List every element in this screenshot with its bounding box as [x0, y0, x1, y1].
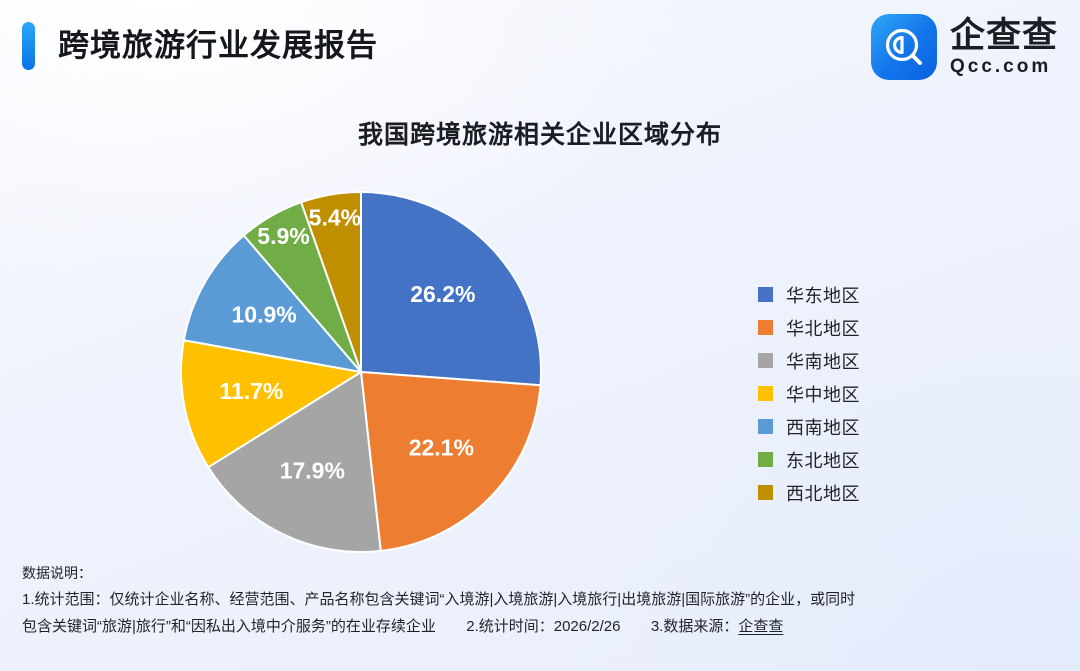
footnote-source-label: 3.数据来源： — [651, 618, 739, 635]
pie-chart: 26.2%22.1%17.9%11.7%10.9%5.9%5.4% 华东地区华北… — [0, 170, 1080, 550]
legend-item-label: 东北地区 — [786, 447, 860, 473]
legend-item-label: 西南地区 — [786, 414, 860, 440]
legend-swatch-icon — [758, 287, 773, 302]
footnote-line-2: 包含关键词“旅游|旅行”和“因私出入境中介服务”的在业存续企业 2.统计时间：2… — [22, 613, 1062, 640]
pie-slice-label: 22.1% — [409, 435, 474, 461]
legend-item-label: 西北地区 — [786, 480, 860, 506]
pie-chart-svg: 26.2%22.1%17.9%11.7%10.9%5.9%5.4% — [170, 180, 560, 570]
page-header: 跨境旅游行业发展报告 企查查 Qcc.com — [0, 0, 1080, 95]
footnotes: 数据说明： 1.统计范围：仅统计企业名称、经营范围、产品名称包含关键词“入境游|… — [22, 560, 1062, 640]
legend-item-label: 华中地区 — [786, 381, 860, 407]
chart-title: 我国跨境旅游相关企业区域分布 — [0, 115, 1080, 151]
legend-item[interactable]: 西北地区 — [758, 476, 860, 509]
chart-legend: 华东地区华北地区华南地区华中地区西南地区东北地区西北地区 — [758, 278, 860, 509]
legend-swatch-icon — [758, 353, 773, 368]
legend-swatch-icon — [758, 485, 773, 500]
brand-text: 企查查 Qcc.com — [950, 17, 1058, 78]
legend-swatch-icon — [758, 320, 773, 335]
footnote-heading: 数据说明： — [22, 560, 1062, 586]
legend-item[interactable]: 西南地区 — [758, 410, 860, 443]
pie-slice-label: 5.4% — [309, 204, 361, 230]
pie-slice-label: 17.9% — [280, 457, 345, 483]
pie-slice-label: 5.9% — [257, 223, 309, 249]
pie-slice-group — [181, 192, 541, 552]
brand-domain: Qcc.com — [950, 56, 1051, 78]
legend-item-label: 华东地区 — [786, 282, 860, 308]
pie-slice-label: 11.7% — [219, 378, 283, 404]
footnote-scope-tail: 包含关键词“旅游|旅行”和“因私出入境中介服务”的在业存续企业 — [22, 618, 436, 635]
legend-swatch-icon — [758, 452, 773, 467]
pie-slice-label: 10.9% — [231, 302, 296, 328]
pie-slice-label: 26.2% — [410, 281, 475, 307]
legend-item[interactable]: 华北地区 — [758, 311, 860, 344]
brand-logo: 企查查 Qcc.com — [871, 14, 1058, 80]
legend-item[interactable]: 东北地区 — [758, 443, 860, 476]
legend-item[interactable]: 华东地区 — [758, 278, 860, 311]
footnote-source-value: 企查查 — [738, 618, 783, 635]
pie-slice — [361, 372, 541, 551]
legend-item-label: 华南地区 — [786, 348, 860, 374]
footnote-stat-time: 2.统计时间：2026/2/26 — [466, 618, 620, 635]
title-accent-bar — [22, 22, 35, 70]
qcc-logo-icon — [871, 14, 937, 80]
legend-item[interactable]: 华中地区 — [758, 377, 860, 410]
brand-name: 企查查 — [950, 17, 1058, 55]
legend-item-label: 华北地区 — [786, 315, 860, 341]
page-title: 跨境旅游行业发展报告 — [58, 22, 378, 70]
legend-swatch-icon — [758, 386, 773, 401]
footnote-line-1: 1.统计范围：仅统计企业名称、经营范围、产品名称包含关键词“入境游|入境旅游|入… — [22, 586, 1062, 613]
legend-swatch-icon — [758, 419, 773, 434]
legend-item[interactable]: 华南地区 — [758, 344, 860, 377]
